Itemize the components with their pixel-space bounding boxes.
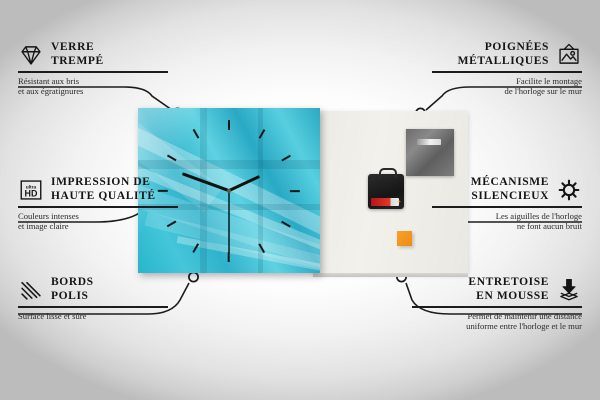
feature-divider: [18, 206, 178, 208]
feature-desc-line1: Facilite le montage: [432, 76, 582, 87]
tick-mark: [228, 252, 230, 262]
feature-title-line2: HAUTE QUALITÉ: [51, 190, 156, 204]
diamond-icon: [18, 42, 44, 68]
battery-plus-marker: +: [397, 200, 402, 205]
feature-divider: [412, 306, 582, 308]
feature-desc-line2: et image claire: [18, 221, 178, 232]
feature-divider: [432, 71, 582, 73]
feature-title-line2: POLIS: [51, 290, 94, 304]
hanger-slot: [417, 139, 441, 145]
feature-title-line2: TREMPÉ: [51, 55, 104, 69]
foam-spacer: [397, 231, 412, 246]
feature-title-line1: POIGNÉES: [458, 41, 549, 55]
quartz-mechanism: +: [368, 174, 404, 209]
tick-mark: [193, 129, 199, 139]
feature-desc-line1: Les aiguilles de l'horloge: [432, 211, 582, 222]
feature-bords-polis: BORDS POLIS Surface lisse et sûre: [18, 276, 168, 321]
feature-entretoise-en-mousse: ENTRETOISE EN MOUSSE Permet de maintenir…: [412, 276, 582, 332]
tick-mark: [281, 154, 291, 160]
clock-center-cap: [227, 189, 231, 193]
feature-title-line2: SILENCIEUX: [471, 190, 549, 204]
tick-mark: [167, 154, 177, 160]
polished-edges-icon: [18, 277, 44, 303]
feature-desc-line2: de l'horloge sur le mur: [432, 86, 582, 97]
tick-mark: [281, 220, 291, 226]
feature-poignees-metalliques: POIGNÉES MÉTALLIQUES Facilite le montage…: [432, 41, 582, 97]
tick-mark: [259, 129, 265, 139]
feature-divider: [18, 71, 168, 73]
feature-title-line1: MÉCANISME: [471, 176, 549, 190]
feature-desc-line2: uniforme entre l'horloge et le mur: [412, 321, 582, 332]
metal-hanger-plate: [406, 129, 454, 176]
picture-frame-hanger-icon: [556, 42, 582, 68]
feature-mecanisme-silencieux: MÉCANISME SILENCIEUX Les aiguilles de l'…: [432, 176, 582, 232]
feature-title-line1: VERRE: [51, 41, 104, 55]
feature-desc-line2: et aux égratignures: [18, 86, 168, 97]
tick-mark: [228, 120, 230, 130]
clock-second-hand: [228, 191, 229, 253]
ultra-hd-icon-large-text: HD: [25, 188, 38, 198]
battery: [371, 198, 399, 206]
tick-mark: [259, 243, 265, 253]
ultra-hd-icon: ultra HD: [18, 177, 44, 203]
gear-icon: [556, 177, 582, 203]
tick-mark: [193, 243, 199, 253]
feature-desc-line1: Couleurs intenses: [18, 211, 178, 222]
feature-desc-line1: Permet de maintenir une distance: [412, 311, 582, 322]
product-illustration: +: [138, 108, 468, 278]
feature-divider: [432, 206, 582, 208]
tick-mark: [290, 190, 300, 192]
feature-divider: [18, 306, 168, 308]
feature-title-line1: BORDS: [51, 276, 94, 290]
infographic-canvas: +: [0, 0, 600, 400]
feature-desc-line1: Surface lisse et sûre: [18, 311, 168, 322]
feature-title-line2: MÉTALLIQUES: [458, 55, 549, 69]
feature-desc-line2: ne font aucun bruit: [432, 221, 582, 232]
arrow-onto-foam-icon: [556, 277, 582, 303]
mechanism-hanger-loop: [379, 168, 397, 178]
feature-title-line1: IMPRESSION DE: [51, 176, 156, 190]
feature-title-line1: ENTRETOISE: [468, 276, 549, 290]
feature-desc-line1: Résistant aux bris: [18, 76, 168, 87]
feature-title-line2: EN MOUSSE: [468, 290, 549, 304]
feature-verre-trempe: VERRE TREMPÉ Résistant aux bris et aux é…: [18, 41, 168, 97]
feature-impression-haute-qualite: ultra HD IMPRESSION DE HAUTE QUALITÉ Cou…: [18, 176, 178, 232]
